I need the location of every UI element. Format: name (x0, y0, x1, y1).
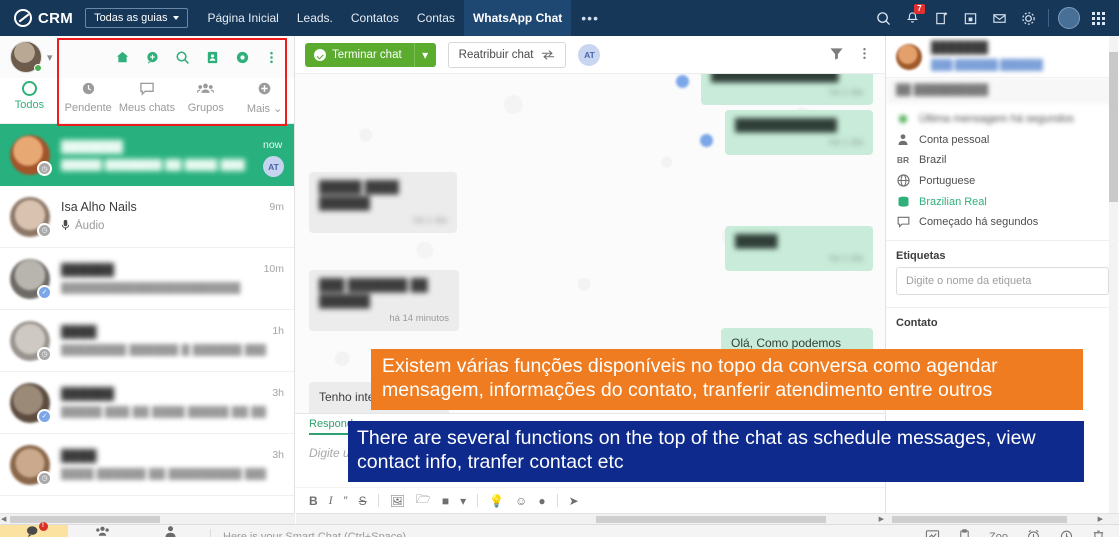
nav-item-label: Contas (417, 11, 455, 25)
chat-item-preview-text: █████ ███ ██ ████ █████ ██ ████ ██ █████… (61, 406, 266, 418)
contact-info-item[interactable]: Conta pessoal (896, 129, 1109, 150)
filter-tab-label: Grupos (188, 102, 224, 114)
chat-item-preview: Áudio (61, 219, 263, 234)
plus-circle-icon (257, 81, 272, 99)
contact-icon[interactable]: ● (538, 494, 545, 508)
toolbar-divider (557, 494, 558, 507)
caption-english: There are several functions on the top o… (348, 421, 1084, 482)
chat-item-body: ████████████ ██████ █ ██████ █████ (61, 325, 266, 356)
filter-tab-todos[interactable]: Todos (0, 78, 59, 111)
pending-status-icon: ◷ (37, 223, 52, 238)
microphone-icon (61, 219, 70, 234)
zoo-icon[interactable]: Zoo (989, 531, 1008, 537)
all-tabs-label: Todas as guias (94, 12, 167, 24)
assignee-avatar[interactable]: AT (578, 44, 600, 66)
chat-item-time: 1h (272, 319, 284, 337)
filter-tab-meus-chats[interactable]: Meus chats (118, 78, 177, 114)
dropdown-icon[interactable]: ▾ (460, 494, 466, 508)
filter-tab-label: Pendente (65, 102, 112, 114)
check-circle-icon (314, 49, 326, 61)
apps-grid-icon[interactable] (1085, 5, 1111, 31)
chat-item-preview: ████ ██████ ██ █████████ ████ (61, 468, 266, 480)
clock-icon (81, 81, 96, 99)
chat-list-panel: ▾ (0, 36, 295, 513)
chat-list-item[interactable]: ◷████████████ ███████ ██ ████ ███nowAT (0, 124, 294, 186)
contact-info-label: Brazil (919, 154, 947, 166)
message-bubble: ███ ███████ ██ ██████ há 14 minutos (309, 270, 459, 331)
contact-info-item[interactable]: Portuguese (896, 170, 1109, 191)
caption-portuguese: Existem várias funções disponíveis no to… (371, 349, 1083, 410)
message-text: ████████████ (735, 117, 863, 133)
note-add-icon[interactable] (928, 5, 954, 31)
chat-item-time: 9m (269, 195, 284, 213)
contact-header[interactable]: ███████ ███ ██████ ██████ (886, 36, 1119, 78)
contact-subtitle: ███ ██████ ██████ (931, 60, 1043, 71)
brand-logo-area[interactable]: CRM (0, 9, 85, 27)
search-icon[interactable] (175, 50, 190, 65)
smart-chat-hint[interactable]: Here is your Smart Chat (Ctrl+Space) (217, 531, 406, 537)
chat-item-meta: 3h (272, 443, 284, 487)
contact-avatar: ✓ (10, 383, 50, 423)
nav-item-contatos[interactable]: Contatos (342, 0, 408, 36)
transfer-icon (541, 49, 555, 61)
settings-icon[interactable] (235, 50, 250, 65)
chat-item-preview: █████ ███ ██ ████ █████ ██ ████ ██ █████… (61, 406, 266, 418)
contact-info-label: Brazilian Real (919, 196, 987, 208)
bold-icon[interactable]: B (309, 494, 318, 508)
chat-alert-icon: ! (26, 525, 43, 537)
message-time: há 1 dia (711, 87, 863, 100)
scrollbar-thumb[interactable] (892, 516, 1067, 523)
chat-item-name: ████ (61, 325, 266, 339)
status-bar-channels[interactable]: Channels (68, 525, 136, 537)
chat-item-preview-text: ████████ ██████ █ ██████ █████ (61, 344, 266, 356)
status-bar-right-icons: Zoo (925, 529, 1119, 537)
br-flag-icon: BR (896, 155, 910, 165)
scroll-right-arrow[interactable]: ▶ (1098, 515, 1103, 523)
end-chat-dropdown-button[interactable]: ▾ (414, 43, 436, 67)
contact-avatar: ◷ (10, 445, 50, 485)
filter-icon[interactable] (829, 46, 844, 64)
chat-list-header: ▾ (0, 36, 294, 78)
notification-badge: 7 (914, 4, 925, 14)
message-time: há 1 dia (319, 215, 447, 228)
all-tabs-dropdown[interactable]: Todas as guias (85, 8, 188, 28)
message-bubble: ███████████████ há 1 dia (701, 74, 873, 105)
chat-list-item[interactable]: ◷████████ ██████ ██ █████████ ████3h (0, 434, 294, 496)
chat-bubble-icon (139, 81, 155, 99)
nav-item-label: Leads. (297, 11, 333, 25)
chat-item-body: ████████████ ███████ ██ ████ ███ (61, 140, 257, 171)
contact-avatar: ✓ (10, 259, 50, 299)
online-status-dot (34, 64, 42, 72)
contact-section-title: Contato (886, 308, 1119, 334)
contact-info-label: Começado há segundos (919, 216, 1038, 228)
contacts-book-icon[interactable] (205, 50, 220, 65)
filter-tab-label: Mais ⌄ (247, 102, 283, 115)
image-icon[interactable]: 🖼 (390, 494, 405, 508)
nav-overflow-button[interactable]: ••• (571, 10, 609, 26)
user-avatar[interactable] (1056, 5, 1082, 31)
message-bubble: █████ ████ ██████ há 1 dia (309, 172, 457, 233)
end-chat-button-group[interactable]: Terminar chat ▾ (305, 43, 436, 67)
emoji-icon[interactable]: ☺ (515, 494, 527, 508)
tags-section-title: Etiquetas (886, 241, 1119, 267)
message-time: há 1 dia (735, 137, 863, 150)
status-bar-unread-chats[interactable]: !Unread Chats (0, 525, 68, 537)
crm-logo-icon (14, 9, 32, 27)
chat-bubble-icon (896, 216, 910, 228)
more-vertical-icon[interactable] (265, 50, 278, 65)
contact-info-item[interactable]: Começado há segundos (896, 212, 1109, 232)
message-text: ███ ███████ ██ ██████ (319, 277, 449, 309)
chat-list-item[interactable]: ◷Isa Alho NailsÁudio9m (0, 186, 294, 248)
filter-tab-grupos[interactable]: Grupos (176, 78, 235, 114)
contact-info-label: Portuguese (919, 175, 975, 187)
chat-list-header-icons (115, 50, 288, 65)
scrollbar-thumb[interactable] (10, 516, 160, 523)
scroll-right-arrow[interactable]: ▶ (879, 515, 884, 523)
channels-icon (95, 525, 110, 537)
sent-status-icon: ✓ (37, 285, 52, 300)
person-icon (896, 133, 910, 146)
history-icon[interactable] (1059, 529, 1074, 537)
contact-avatar: ◷ (10, 135, 50, 175)
home-icon[interactable] (115, 50, 130, 65)
strikethrough-icon[interactable]: S (359, 494, 367, 508)
contact-info-item[interactable]: BRBrazil (896, 150, 1109, 170)
nav-item-contas[interactable]: Contas (408, 0, 464, 36)
search-icon[interactable] (870, 5, 896, 31)
chat-item-time: now (263, 133, 282, 151)
message-time: há 14 minutos (319, 313, 449, 326)
scroll-left-arrow[interactable]: ◀ (1, 515, 6, 523)
pending-status-icon: ◷ (37, 471, 52, 486)
contact-info-list: Última mensagem há segundosConta pessoal… (886, 103, 1119, 241)
contacts-icon (164, 525, 177, 537)
end-chat-label: Terminar chat (332, 49, 402, 61)
chat-item-time: 10m (264, 257, 284, 275)
chat-item-time: 3h (272, 381, 284, 399)
message-bubble: █████ há 1 dia (725, 226, 873, 271)
contact-avatar: ◷ (10, 197, 50, 237)
contact-panel-horizontal-scrollbar[interactable]: ▶ (886, 513, 1119, 524)
chat-item-body: ████████ ██████ ██ █████████ ████ (61, 449, 266, 480)
user-avatar[interactable] (10, 41, 42, 73)
chat-item-preview-text: Áudio (75, 220, 104, 232)
filter-tab-label: Todos (15, 99, 44, 111)
chat-item-preview-text: ██████████████████████ (61, 282, 240, 294)
contact-info-item[interactable]: Última mensagem há segundos (896, 109, 1109, 129)
status-bar-items: !Unread ChatsChannelsContacts (0, 525, 204, 537)
chat-item-name: ██████ (61, 387, 266, 401)
chat-list: ◷████████████ ███████ ██ ████ ███nowAT◷I… (0, 124, 294, 496)
end-chat-button[interactable]: Terminar chat (305, 43, 414, 67)
brand-name: CRM (38, 10, 73, 27)
toolbar-divider (378, 494, 379, 507)
message-text: █████ ████ ██████ (319, 179, 447, 211)
contact-avatar (896, 44, 922, 70)
chat-item-name: ████ (61, 449, 266, 463)
sent-status-icon: ✓ (37, 409, 52, 424)
chat-item-preview: ██████████████████████ (61, 282, 258, 294)
panel-scrollbar-thumb[interactable] (1109, 52, 1118, 202)
nav-item-p-gina-inicial[interactable]: Página Inicial (198, 0, 287, 36)
chat-item-meta: 3h (272, 381, 284, 425)
chat-item-name: ██████ (61, 263, 258, 277)
assignee-avatar: AT (263, 156, 284, 177)
reassign-chat-button[interactable]: Reatribuir chat (448, 42, 567, 68)
chat-item-preview: ████████ ██████ █ ██████ █████ (61, 344, 266, 356)
message-time: há 1 dia (735, 253, 863, 266)
contact-avatar: ◷ (10, 321, 50, 361)
chat-filter-tabs: TodosPendenteMeus chatsGruposMais ⌄ (0, 78, 294, 124)
nav-divider (1048, 9, 1049, 27)
filter-tab-mais[interactable]: Mais ⌄ (235, 78, 294, 115)
tag-input[interactable]: Digite o nome da etiqueta (896, 267, 1109, 295)
conversation-status-label: ██ ██████████ (886, 78, 1119, 103)
lightbulb-icon[interactable]: 💡 (489, 494, 504, 508)
chat-item-body: ███████████ ███ ██ ████ █████ ██ ████ ██… (61, 387, 266, 418)
conversation-header-actions (829, 46, 875, 64)
chat-item-preview-text: █████ ███████ ██ ████ ███ (61, 159, 245, 171)
calendar-icon[interactable] (957, 5, 983, 31)
circle-icon (22, 81, 37, 96)
chat-item-meta: 9m (269, 195, 284, 239)
chat-list-item[interactable]: ✓███████████ ███ ██ ████ █████ ██ ████ █… (0, 372, 294, 434)
chat-item-preview-text: ████ ██████ ██ █████████ ████ (61, 468, 266, 480)
italic-icon[interactable]: I (329, 493, 333, 508)
contact-info-label: Conta pessoal (919, 134, 989, 146)
nav-item-label: Contatos (351, 11, 399, 25)
chart-icon[interactable] (925, 529, 940, 537)
pending-status-icon: ◷ (37, 161, 52, 176)
scrollbar-thumb[interactable] (596, 516, 826, 523)
chevron-down-icon[interactable]: ▾ (47, 51, 53, 64)
conversation-header: Terminar chat ▾ Reatribuir chat AT (295, 36, 885, 74)
chevron-down-icon (173, 16, 179, 20)
top-navigation-bar: CRM Todas as guias Página InicialLeads.C… (0, 0, 1119, 36)
chat-item-meta: 1h (272, 319, 284, 363)
nav-item-label: Página Inicial (207, 11, 278, 25)
gear-icon[interactable] (1015, 5, 1041, 31)
chat-list-item[interactable]: ◷████████████ ██████ █ ██████ █████1h (0, 310, 294, 372)
video-icon[interactable]: ■ (442, 494, 449, 508)
file-icon[interactable]: 🗁 (416, 490, 431, 511)
new-chat-icon[interactable] (145, 50, 160, 65)
pending-status-icon: ◷ (37, 347, 52, 362)
nav-items-group: Página InicialLeads.ContatosContasWhatsA… (198, 0, 571, 36)
chat-list-item[interactable]: ✓████████████████████████████10m (0, 248, 294, 310)
chat-item-name: Isa Alho Nails (61, 200, 263, 214)
status-dot-icon (676, 75, 689, 88)
chat-item-preview: █████ ███████ ██ ████ ███ (61, 159, 257, 171)
filter-tab-pendente[interactable]: Pendente (59, 78, 118, 114)
alarm-icon[interactable] (1026, 529, 1041, 537)
money-icon (896, 195, 910, 208)
reassign-chat-label: Reatribuir chat (459, 49, 534, 61)
contact-info-label: Última mensagem há segundos (919, 113, 1074, 125)
nav-item-leads[interactable]: Leads. (288, 0, 342, 36)
chat-item-meta: nowAT (263, 133, 284, 177)
green-dot-icon (896, 115, 910, 123)
alert-badge: ! (39, 522, 48, 531)
nav-right-icons: 7 (870, 5, 1119, 31)
status-bar-contacts[interactable]: Contacts (136, 525, 204, 537)
contact-info-item[interactable]: Brazilian Real (896, 191, 1109, 212)
send-template-icon[interactable]: ➤ (569, 494, 579, 508)
globe-icon (896, 174, 910, 187)
nav-item-label: WhatsApp Chat (473, 11, 562, 25)
trash-icon[interactable] (1092, 529, 1105, 537)
bottom-status-bar: !Unread ChatsChannelsContacts Here is yo… (0, 524, 1119, 537)
quote-icon[interactable]: ” (344, 494, 348, 508)
mail-icon[interactable] (986, 5, 1012, 31)
chat-item-body: Isa Alho NailsÁudio (61, 200, 263, 234)
message-text: ███████████████ (711, 74, 863, 83)
chat-item-name: ███████ (61, 140, 257, 154)
more-vertical-icon[interactable] (858, 46, 871, 64)
chat-item-time: 3h (272, 443, 284, 461)
chat-item-meta: 10m (264, 257, 284, 301)
filter-tab-label: Meus chats (119, 102, 175, 114)
contact-name: ███████ (931, 42, 1043, 54)
chat-item-body: ████████████████████████████ (61, 263, 258, 294)
status-divider (210, 529, 211, 537)
status-dot-icon (700, 134, 713, 147)
nav-item-whatsapp-chat[interactable]: WhatsApp Chat (464, 0, 571, 36)
formatting-toolbar: B I ” S 🖼 🗁 ■ ▾ 💡 ☺ ● ➤ (295, 487, 885, 513)
group-icon (197, 81, 214, 99)
message-text: █████ (735, 233, 863, 249)
clipboard-icon[interactable] (958, 529, 971, 537)
conversation-horizontal-scrollbar[interactable]: ▶ (296, 513, 886, 524)
bell-icon[interactable]: 7 (899, 5, 925, 31)
message-bubble: ████████████ há 1 dia (725, 110, 873, 155)
toolbar-divider (477, 494, 478, 507)
